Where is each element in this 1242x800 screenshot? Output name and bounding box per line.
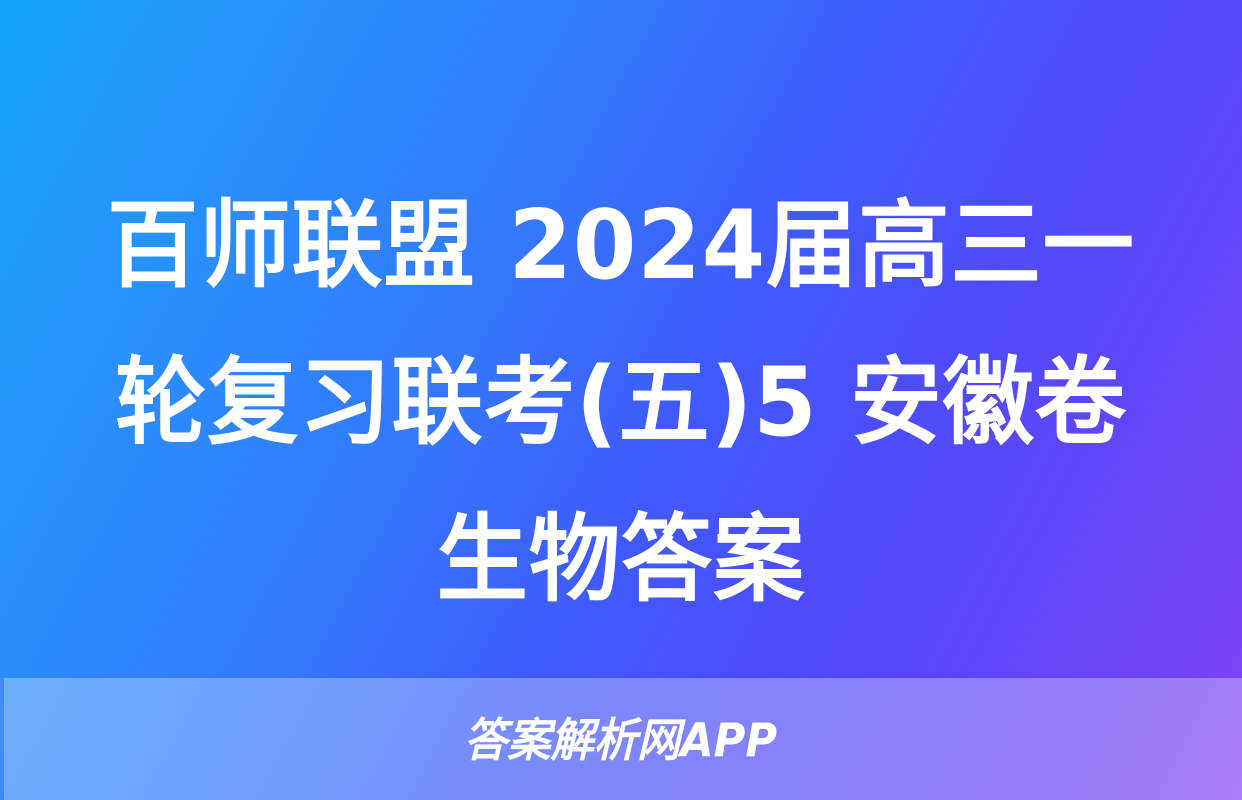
title-line-2: 轮复习联考(五)5 安徽卷 [63, 325, 1179, 482]
page-title: 百师联盟 2024届高三一 轮复习联考(五)5 安徽卷 生物答案 [0, 168, 1242, 639]
app-brand-label: 答案解析网APP [464, 717, 777, 763]
title-line-3: 生物答案 [63, 482, 1179, 639]
footer-banner: 答案解析网APP [0, 678, 1242, 800]
footer-edge-stripe [0, 678, 4, 800]
poster-canvas: 百师联盟 2024届高三一 轮复习联考(五)5 安徽卷 生物答案 答案解析网AP… [0, 0, 1242, 800]
title-line-1: 百师联盟 2024届高三一 [63, 168, 1179, 325]
